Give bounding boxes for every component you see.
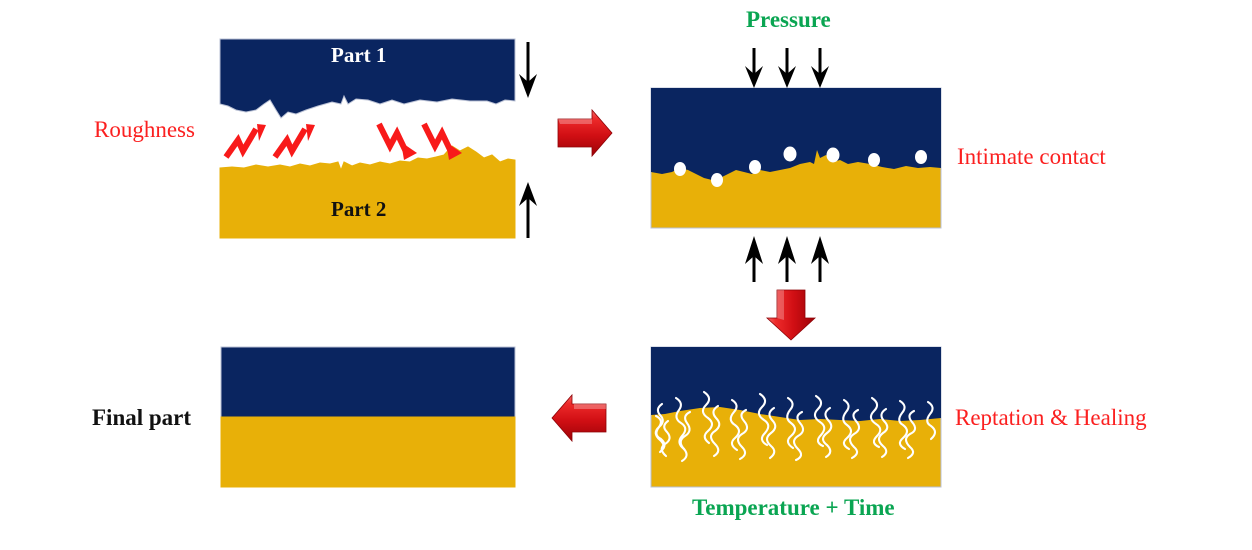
- pressure-arrows-up-icon: [745, 236, 829, 282]
- compaction-arrow-up-icon: [519, 182, 537, 238]
- flow-arrow-down-icon: [767, 290, 815, 340]
- diagram-graphics: [0, 0, 1252, 550]
- pressure-arrows-down-icon: [745, 48, 829, 88]
- label-part-1: Part 1: [331, 45, 386, 66]
- final-part1-block: [221, 347, 515, 417]
- step-intimate-contact-graphic: [651, 48, 941, 282]
- label-roughness: Roughness: [94, 118, 195, 141]
- label-intimate-contact: Intimate contact: [957, 145, 1106, 168]
- part2-block: [220, 146, 515, 238]
- label-final-part: Final part: [92, 406, 191, 429]
- label-temperature-time: Temperature + Time: [692, 496, 895, 519]
- step-final-part-graphic: [221, 347, 515, 487]
- label-pressure: Pressure: [746, 8, 831, 31]
- step-reptation-graphic: [651, 347, 941, 487]
- flow-arrow-left-icon: [552, 395, 606, 441]
- flow-arrow-right-icon: [558, 110, 612, 156]
- final-part2-block: [221, 417, 515, 487]
- diagram-canvas: Roughness Part 1 Part 2 Pressure Intimat…: [0, 0, 1252, 550]
- label-part-2: Part 2: [331, 199, 386, 220]
- label-reptation-healing: Reptation & Healing: [955, 406, 1147, 429]
- compaction-arrow-down-icon: [519, 42, 537, 98]
